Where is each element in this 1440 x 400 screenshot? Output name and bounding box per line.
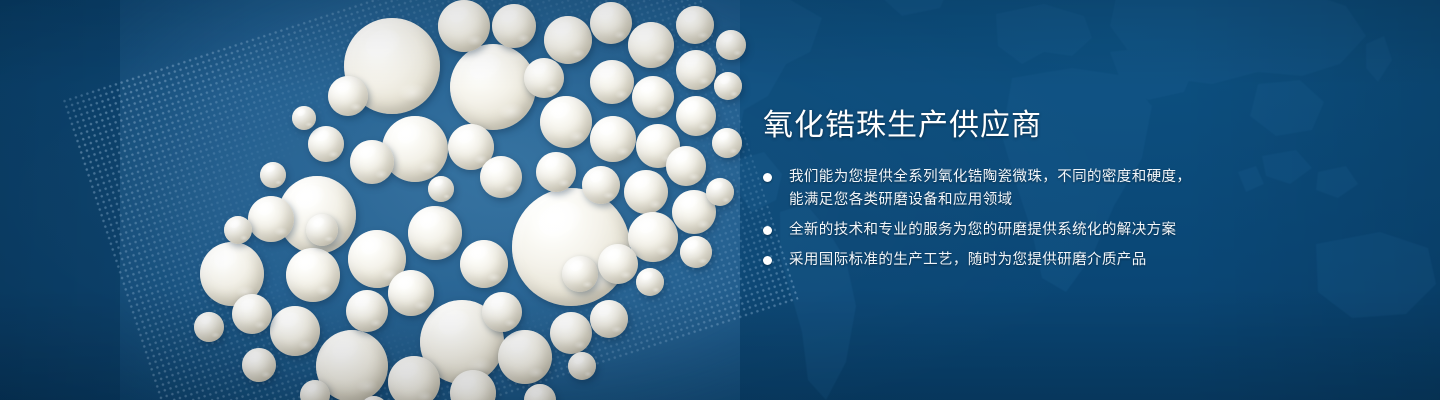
banner-content: 氧化锆珠生产供应商 我们能为您提供全系列氧化锆陶瓷微珠，不同的密度和硬度， 能满… [763,106,1403,272]
bullet-text-line: 能满足您各类研磨设备和应用领域 [789,189,1403,212]
bullet-dot-icon [763,256,772,265]
list-item: 全新的技术和专业的服务为您的研磨提供系统化的解决方案 [763,219,1403,242]
bullet-text-line: 我们能为您提供全系列氧化锆陶瓷微珠，不同的密度和硬度， [789,166,1403,189]
list-item: 采用国际标准的生产工艺，随时为您提供研磨介质产品 [763,249,1403,272]
list-item: 我们能为您提供全系列氧化锆陶瓷微珠，不同的密度和硬度， 能满足您各类研磨设备和应… [763,166,1403,212]
bullet-text-line: 采用国际标准的生产工艺，随时为您提供研磨介质产品 [789,249,1403,272]
hero-banner: 氧化锆珠生产供应商 我们能为您提供全系列氧化锆陶瓷微珠，不同的密度和硬度， 能满… [0,0,1440,400]
bullet-text-line: 全新的技术和专业的服务为您的研磨提供系统化的解决方案 [789,219,1403,242]
bullet-dot-icon [763,226,772,235]
feature-bullet-list: 我们能为您提供全系列氧化锆陶瓷微珠，不同的密度和硬度， 能满足您各类研磨设备和应… [763,166,1403,272]
bullet-dot-icon [763,173,772,182]
page-title: 氧化锆珠生产供应商 [763,106,1403,146]
